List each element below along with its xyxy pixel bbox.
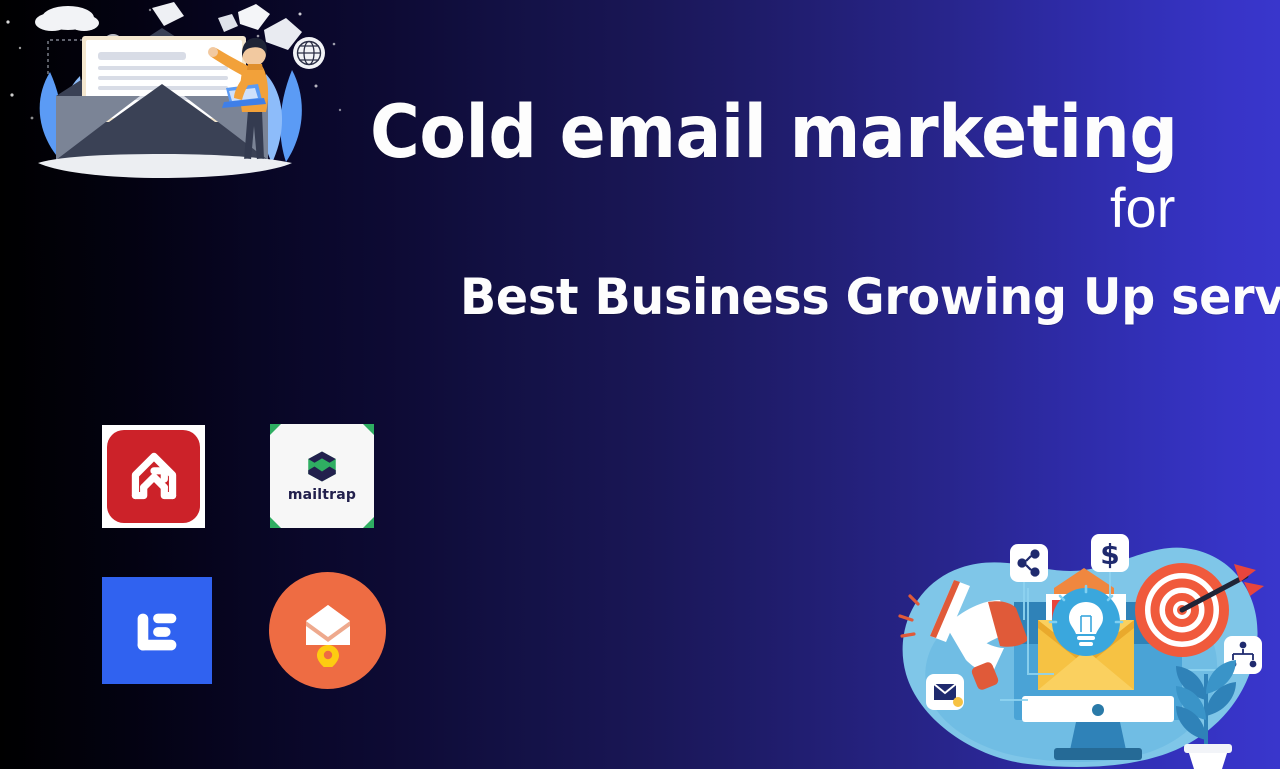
logo-tile-mailtracker[interactable] bbox=[269, 572, 386, 689]
mailtrap-corner-tr bbox=[363, 424, 374, 435]
logo-tile-mailtrap[interactable]: mailtrap bbox=[270, 424, 374, 528]
bottom-right-illustration: $ bbox=[888, 524, 1280, 769]
svg-text:$: $ bbox=[1100, 538, 1119, 571]
share-icon-card bbox=[1010, 544, 1048, 582]
page-title: Cold email marketing bbox=[370, 96, 1040, 169]
globe-icon bbox=[293, 37, 325, 69]
mailtracker-icon bbox=[292, 595, 364, 667]
connector-word: for bbox=[1110, 180, 1175, 236]
gmass-icon bbox=[107, 430, 200, 523]
mailtrap-wordmark: mailtrap bbox=[288, 487, 356, 503]
ground-shape bbox=[38, 154, 292, 178]
mailtrap-corner-bl bbox=[270, 517, 281, 528]
envelope-icon-card bbox=[926, 674, 964, 710]
potted-plant-illustration bbox=[1176, 660, 1236, 769]
mailtrap-icon bbox=[302, 449, 342, 484]
page-subtitle: Best Business Growing Up services bbox=[460, 272, 1280, 322]
dollar-icon-card: $ bbox=[1091, 534, 1129, 572]
top-left-illustration bbox=[0, 0, 345, 185]
lemlist-icon bbox=[126, 600, 188, 662]
logo-tile-lemlist[interactable] bbox=[102, 577, 212, 684]
mailtrap-corner-tl bbox=[270, 424, 281, 435]
cloud-decoration bbox=[35, 6, 99, 31]
poster-canvas: Cold email marketing for Best Business G… bbox=[0, 0, 1280, 769]
mailtrap-corner-br bbox=[363, 517, 374, 528]
logo-tile-gmass[interactable] bbox=[102, 425, 205, 528]
